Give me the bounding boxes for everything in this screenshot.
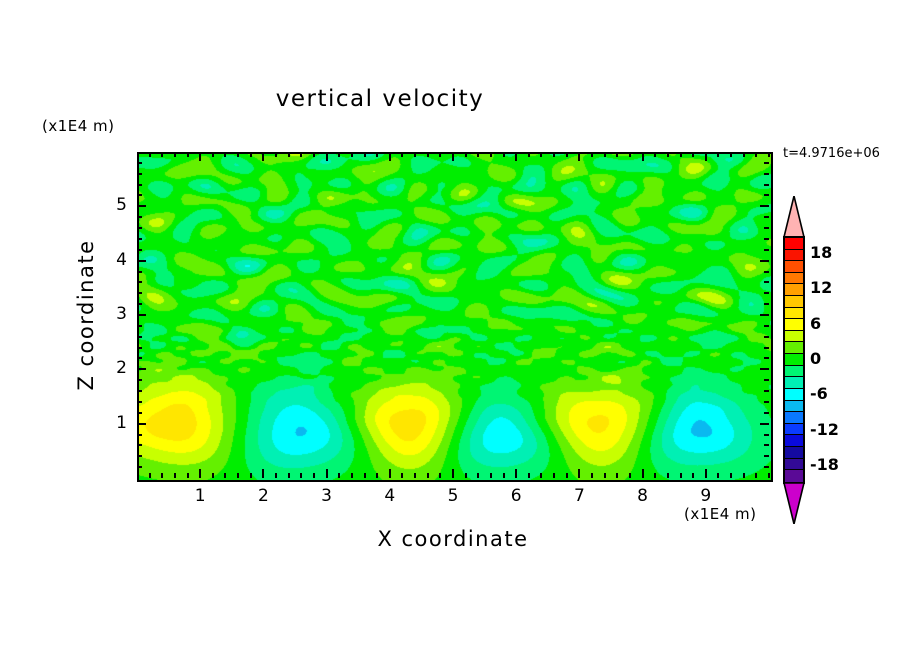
x-minor-tick (692, 473, 694, 478)
y-major-tick (137, 423, 146, 425)
x-minor-tick-top (503, 152, 505, 157)
x-major-tick (578, 469, 580, 478)
x-minor-tick (604, 473, 606, 478)
x-major-tick (262, 469, 264, 478)
y-minor-tick-right (764, 412, 769, 414)
x-major-tick-top (642, 152, 644, 161)
colorbar-band (785, 412, 803, 424)
x-minor-tick-top (654, 152, 656, 157)
x-minor-tick-top (730, 152, 732, 157)
y-minor-tick (137, 455, 142, 457)
x-minor-tick (300, 473, 302, 478)
y-major-tick-right (760, 314, 769, 316)
colorbar-band (785, 331, 803, 343)
x-minor-tick-top (604, 152, 606, 157)
x-minor-tick-top (174, 152, 176, 157)
colorbar-band (785, 354, 803, 366)
x-minor-tick (490, 473, 492, 478)
y-minor-tick-right (764, 455, 769, 457)
colorbar-band (785, 308, 803, 320)
y-major-tick (137, 205, 146, 207)
colorbar-band (785, 238, 803, 250)
x-minor-tick (528, 473, 530, 478)
y-minor-tick-right (764, 271, 769, 273)
x-major-tick-top (578, 152, 580, 161)
x-minor-tick (275, 473, 277, 478)
colorbar-band (785, 366, 803, 378)
y-minor-tick (137, 281, 142, 283)
x-minor-tick-top (187, 152, 189, 157)
colorbar-band (785, 389, 803, 401)
x-minor-tick-top (313, 152, 315, 157)
colorbar-band (785, 250, 803, 262)
x-minor-tick (553, 473, 555, 478)
x-minor-tick-top (616, 152, 618, 157)
x-minor-tick (439, 473, 441, 478)
x-minor-tick-top (566, 152, 568, 157)
x-minor-tick (364, 473, 366, 478)
y-minor-tick-right (764, 379, 769, 381)
x-minor-tick-top (300, 152, 302, 157)
x-minor-tick (540, 473, 542, 478)
page-title: vertical velocity (0, 86, 760, 112)
colorbar: 181260-6-12-18 (782, 196, 806, 524)
x-minor-tick (338, 473, 340, 478)
x-minor-tick (351, 473, 353, 478)
x-minor-tick-top (149, 152, 151, 157)
y-minor-tick (137, 184, 142, 186)
y-major-tick-right (760, 260, 769, 262)
x-minor-tick (730, 473, 732, 478)
y-minor-tick-right (764, 466, 769, 468)
x-minor-tick-top (680, 152, 682, 157)
y-minor-tick (137, 271, 142, 273)
y-minor-tick (137, 162, 142, 164)
x-minor-tick-top (477, 152, 479, 157)
y-minor-tick (137, 347, 142, 349)
colorbar-tick-label: 0 (810, 349, 821, 368)
x-minor-tick-top (161, 152, 163, 157)
x-minor-tick (566, 473, 568, 478)
x-minor-tick (401, 473, 403, 478)
y-minor-tick (137, 444, 142, 446)
x-minor-tick-top (717, 152, 719, 157)
y-minor-tick (137, 466, 142, 468)
colorbar-band (785, 459, 803, 471)
x-minor-tick (161, 473, 163, 478)
y-minor-tick-right (764, 238, 769, 240)
colorbar-tick-label: -12 (810, 420, 839, 439)
colorbar-under-arrow (783, 482, 805, 524)
x-minor-tick-top (528, 152, 530, 157)
colorbar-band (785, 447, 803, 459)
x-tick-label: 1 (175, 486, 225, 506)
x-minor-tick (755, 473, 757, 478)
colorbar-band (785, 435, 803, 447)
x-major-tick-top (705, 152, 707, 161)
y-minor-tick-right (764, 173, 769, 175)
x-minor-tick (174, 473, 176, 478)
x-minor-tick-top (212, 152, 214, 157)
x-minor-tick-top (743, 152, 745, 157)
y-major-tick (137, 260, 146, 262)
colorbar-band (785, 470, 803, 482)
contour-plot-area (137, 152, 773, 482)
x-minor-tick (414, 473, 416, 478)
x-major-tick (515, 469, 517, 478)
x-minor-tick-top (288, 152, 290, 157)
y-minor-tick-right (764, 434, 769, 436)
y-major-tick (137, 314, 146, 316)
y-minor-tick-right (764, 444, 769, 446)
x-minor-tick (629, 473, 631, 478)
x-minor-tick (667, 473, 669, 478)
x-minor-tick-top (591, 152, 593, 157)
y-minor-tick-right (764, 401, 769, 403)
x-major-tick-top (389, 152, 391, 161)
x-minor-tick-top (414, 152, 416, 157)
x-minor-tick-top (376, 152, 378, 157)
x-minor-tick-top (338, 152, 340, 157)
y-minor-tick-right (764, 303, 769, 305)
y-minor-tick (137, 194, 142, 196)
x-tick-label: 6 (491, 486, 541, 506)
x-minor-tick (288, 473, 290, 478)
x-minor-tick-top (629, 152, 631, 157)
x-minor-tick (768, 473, 770, 478)
x-minor-tick-top (364, 152, 366, 157)
colorbar-band (785, 319, 803, 331)
x-minor-tick-top (224, 152, 226, 157)
y-minor-tick (137, 249, 142, 251)
colorbar-band (785, 342, 803, 354)
y-tick-label: 5 (83, 195, 127, 215)
x-minor-tick-top (351, 152, 353, 157)
y-tick-label: 4 (83, 250, 127, 270)
x-major-tick (199, 469, 201, 478)
colorbar-tick-label: 18 (810, 243, 832, 262)
y-minor-tick (137, 401, 142, 403)
y-minor-tick (137, 216, 142, 218)
y-major-tick (137, 368, 146, 370)
x-major-tick (642, 469, 644, 478)
x-minor-tick-top (427, 152, 429, 157)
colorbar-band (785, 261, 803, 273)
x-minor-tick (477, 473, 479, 478)
x-minor-tick-top (401, 152, 403, 157)
x-major-tick-top (199, 152, 201, 161)
y-minor-tick (137, 173, 142, 175)
y-tick-label: 1 (83, 413, 127, 433)
y-minor-tick (137, 390, 142, 392)
x-minor-tick (237, 473, 239, 478)
y-minor-tick (137, 303, 142, 305)
y-minor-tick (137, 325, 142, 327)
y-minor-tick (137, 292, 142, 294)
x-major-tick (389, 469, 391, 478)
x-major-tick-top (452, 152, 454, 161)
x-major-tick (326, 469, 328, 478)
x-tick-label: 7 (554, 486, 604, 506)
colorbar-tick-label: -6 (810, 384, 828, 403)
x-minor-tick-top (250, 152, 252, 157)
y-axis-unit-label: (x1E4 m) (42, 117, 115, 135)
x-minor-tick (313, 473, 315, 478)
colorbar-tick-label: 6 (810, 314, 821, 333)
x-major-tick (452, 469, 454, 478)
x-tick-label: 5 (428, 486, 478, 506)
y-minor-tick-right (764, 281, 769, 283)
colorbar-band (785, 424, 803, 436)
x-minor-tick-top (692, 152, 694, 157)
timestamp-annotation: t=4.9716e+06 (783, 146, 880, 161)
x-tick-label: 4 (365, 486, 415, 506)
colorbar-band (785, 284, 803, 296)
x-major-tick-top (326, 152, 328, 161)
colorbar-bands (783, 236, 805, 484)
y-minor-tick (137, 379, 142, 381)
y-minor-tick-right (764, 357, 769, 359)
y-tick-label: 2 (83, 358, 127, 378)
colorbar-tick-label: -18 (810, 455, 839, 474)
y-minor-tick (137, 357, 142, 359)
x-minor-tick (743, 473, 745, 478)
x-minor-tick-top (465, 152, 467, 157)
y-minor-tick-right (764, 347, 769, 349)
x-tick-label: 9 (681, 486, 731, 506)
x-tick-label: 3 (302, 486, 352, 506)
x-minor-tick-top (768, 152, 770, 157)
x-minor-tick-top (540, 152, 542, 157)
y-minor-tick (137, 336, 142, 338)
y-minor-tick-right (764, 194, 769, 196)
x-minor-tick (250, 473, 252, 478)
x-tick-label: 2 (238, 486, 288, 506)
colorbar-band (785, 273, 803, 285)
x-major-tick-top (515, 152, 517, 161)
x-minor-tick (591, 473, 593, 478)
x-minor-tick (503, 473, 505, 478)
colorbar-band (785, 401, 803, 413)
x-minor-tick (376, 473, 378, 478)
vertical-velocity-contour-field (139, 154, 771, 480)
y-minor-tick-right (764, 184, 769, 186)
x-minor-tick-top (237, 152, 239, 157)
x-tick-label: 8 (618, 486, 668, 506)
y-minor-tick-right (764, 336, 769, 338)
y-minor-tick-right (764, 325, 769, 327)
y-tick-label: 3 (83, 304, 127, 324)
y-minor-tick (137, 412, 142, 414)
x-minor-tick-top (490, 152, 492, 157)
y-minor-tick-right (764, 292, 769, 294)
x-minor-tick (654, 473, 656, 478)
x-minor-tick-top (553, 152, 555, 157)
y-minor-tick-right (764, 162, 769, 164)
x-major-tick (705, 469, 707, 478)
y-minor-tick (137, 434, 142, 436)
x-minor-tick-top (755, 152, 757, 157)
x-axis-unit-label: (x1E4 m) (684, 505, 757, 523)
y-minor-tick-right (764, 390, 769, 392)
y-major-tick-right (760, 423, 769, 425)
x-minor-tick-top (275, 152, 277, 157)
x-minor-tick (212, 473, 214, 478)
x-minor-tick (187, 473, 189, 478)
y-major-tick-right (760, 205, 769, 207)
y-major-tick-right (760, 368, 769, 370)
x-minor-tick (465, 473, 467, 478)
y-minor-tick-right (764, 227, 769, 229)
x-major-tick-top (262, 152, 264, 161)
y-minor-tick (137, 227, 142, 229)
x-minor-tick (616, 473, 618, 478)
y-minor-tick-right (764, 216, 769, 218)
colorbar-band (785, 296, 803, 308)
x-minor-tick (680, 473, 682, 478)
x-minor-tick (149, 473, 151, 478)
colorbar-band (785, 377, 803, 389)
x-axis-title: X coordinate (238, 527, 668, 551)
x-minor-tick (224, 473, 226, 478)
y-minor-tick (137, 238, 142, 240)
colorbar-tick-label: 12 (810, 278, 832, 297)
x-minor-tick (427, 473, 429, 478)
x-minor-tick-top (439, 152, 441, 157)
y-minor-tick-right (764, 249, 769, 251)
x-minor-tick-top (667, 152, 669, 157)
figure-canvas: vertical velocity (x1E4 m) (x1E4 m) Z co… (0, 0, 904, 654)
x-minor-tick (717, 473, 719, 478)
colorbar-over-arrow (783, 196, 805, 238)
